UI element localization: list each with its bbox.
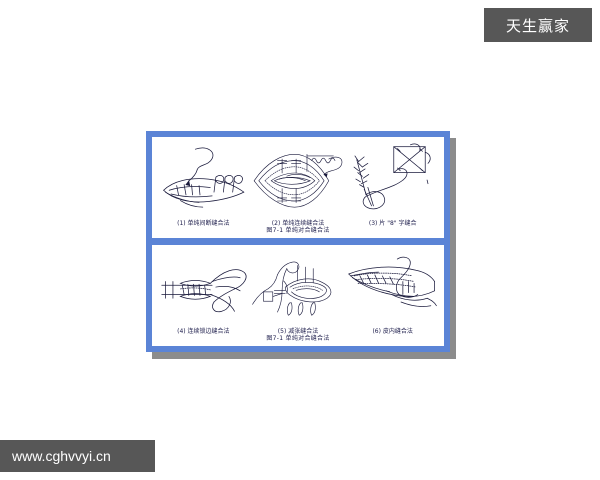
illustration-locking-suture [158, 248, 251, 328]
sub-caption-1: (1) 单纯间断缝合法 [156, 220, 251, 227]
continuous-suture-icon [251, 143, 344, 217]
tension-relief-suture-icon [251, 251, 344, 325]
site-watermark: www.cghvvyi.cn [0, 440, 155, 472]
sub-caption-6: (6) 皮内缝合法 [345, 328, 440, 335]
illustration-tension-relief-suture [251, 248, 344, 328]
figure-frame: (1) 单纯间断缝合法 (2) 单纯连续缝合法 (3) 片 "8" 字缝合 图7… [146, 131, 450, 352]
brand-badge: 天生赢家 [484, 8, 592, 42]
illustration-figure-eight-suture [345, 140, 438, 220]
illustration-interrupted-suture [158, 140, 251, 220]
illustration-intradermal-suture [345, 248, 438, 328]
figure-title-bottom: 图7-1 单纯对合缝合法 [152, 335, 444, 346]
figure-panel-top: (1) 单纯间断缝合法 (2) 单纯连续缝合法 (3) 片 "8" 字缝合 图7… [152, 137, 444, 238]
panel-top-artwork-row [152, 137, 444, 220]
interrupted-suture-icon [158, 143, 251, 217]
sub-caption-4: (4) 连续锁边缝合法 [156, 328, 251, 335]
figure-eight-suture-icon [349, 143, 433, 217]
brand-badge-label: 天生赢家 [506, 15, 570, 36]
sub-caption-3: (3) 片 "8" 字缝合 [345, 220, 440, 227]
figure-title-top: 图7-1 单纯对合缝合法 [152, 227, 444, 238]
site-watermark-label: www.cghvvyi.cn [12, 448, 111, 464]
locking-suture-icon [158, 253, 251, 323]
intradermal-suture-icon [345, 253, 438, 323]
panel-bottom-artwork-row [152, 245, 444, 328]
figure-panel-bottom: (4) 连续锁边缝合法 (5) 减张缝合法 (6) 皮内缝合法 图7-1 单纯对… [152, 245, 444, 346]
illustration-continuous-suture [251, 140, 344, 220]
